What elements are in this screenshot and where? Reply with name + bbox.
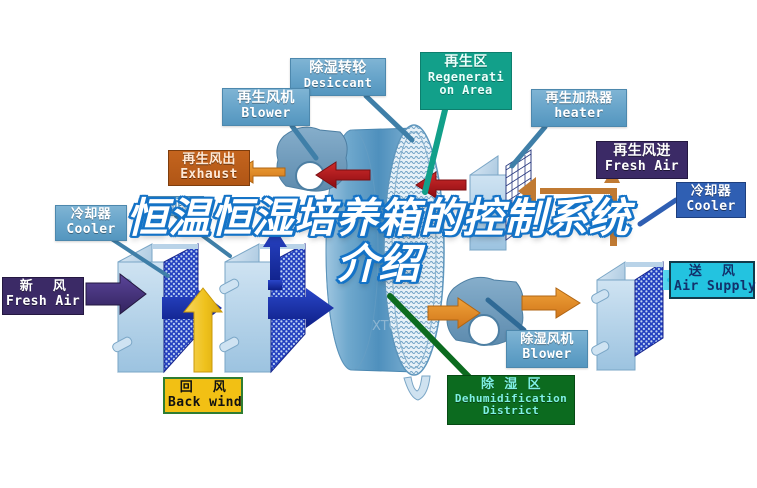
label-air-supply-en: Air Supply xyxy=(674,280,750,295)
label-cooler-right: 冷却器Cooler xyxy=(676,182,746,218)
label-back-wind-cn: 回 风 xyxy=(168,381,238,396)
arrow-regen-fresh-in xyxy=(518,168,620,246)
label-cooler-left-cn: 冷却器 xyxy=(59,208,123,223)
supply-filter-unit xyxy=(590,262,663,370)
label-desiccant-rotor-cn: 除湿转轮 xyxy=(294,61,382,77)
label-exhaust: 再生风出Exhaust xyxy=(168,150,250,186)
label-back-wind-en: Back wind xyxy=(168,396,238,411)
label-regeneration-heater-cn: 再生加热器 xyxy=(535,92,623,107)
label-regeneration-blower-en: Blower xyxy=(226,107,306,122)
label-air-supply: 送 风Air Supply xyxy=(669,261,755,299)
label-cooler-mid: 冷却器 xyxy=(142,196,204,216)
label-regeneration-fresh-air: 再生风进Fresh Air xyxy=(596,141,688,179)
label-regeneration-heater: 再生加热器heater xyxy=(531,89,627,127)
label-regeneration-area: 再生区Regenerati on Area xyxy=(420,52,512,110)
diagram-canvas: XTO xyxy=(0,0,757,488)
label-regeneration-area-en: Regenerati on Area xyxy=(424,71,508,98)
rotor-watermark: XTO xyxy=(372,319,399,334)
regeneration-heater-unit xyxy=(470,150,531,250)
label-exhaust-en: Exhaust xyxy=(172,168,246,183)
label-cooler-right-en: Cooler xyxy=(680,200,742,215)
label-regeneration-blower-cn: 再生风机 xyxy=(226,91,306,107)
label-dehumidification-district: 除 湿 区Dehumidification District xyxy=(447,375,575,425)
label-back-wind: 回 风Back wind xyxy=(163,377,243,414)
label-dehumidification-district-en: Dehumidification District xyxy=(451,393,571,418)
label-regeneration-fresh-air-en: Fresh Air xyxy=(600,160,684,175)
label-cooler-left: 冷却器Cooler xyxy=(55,205,127,241)
label-fresh-air-intake-en: Fresh Air xyxy=(6,295,80,310)
label-cooler-mid-cn: 冷却器 xyxy=(146,199,200,212)
label-cooler-left-en: Cooler xyxy=(59,223,123,238)
label-dehumidification-district-cn: 除 湿 区 xyxy=(451,378,571,393)
regeneration-blower-unit xyxy=(277,127,347,191)
label-air-supply-cn: 送 风 xyxy=(674,265,750,280)
arrow-dry-air-2 xyxy=(522,288,580,318)
label-cooler-right-cn: 冷却器 xyxy=(680,185,742,200)
label-regeneration-heater-en: heater xyxy=(535,107,623,122)
label-exhaust-cn: 再生风出 xyxy=(172,153,246,168)
label-fresh-air-intake: 新 风Fresh Air xyxy=(2,277,84,315)
label-regeneration-blower: 再生风机Blower xyxy=(222,88,310,126)
label-dehumidify-blower-cn: 除湿风机 xyxy=(510,333,584,348)
label-dehumidify-blower-en: Blower xyxy=(510,348,584,363)
label-regeneration-area-cn: 再生区 xyxy=(424,55,508,71)
label-dehumidify-blower: 除湿风机Blower xyxy=(506,330,588,368)
label-fresh-air-intake-cn: 新 风 xyxy=(6,280,80,295)
label-regeneration-fresh-air-cn: 再生风进 xyxy=(600,144,684,160)
